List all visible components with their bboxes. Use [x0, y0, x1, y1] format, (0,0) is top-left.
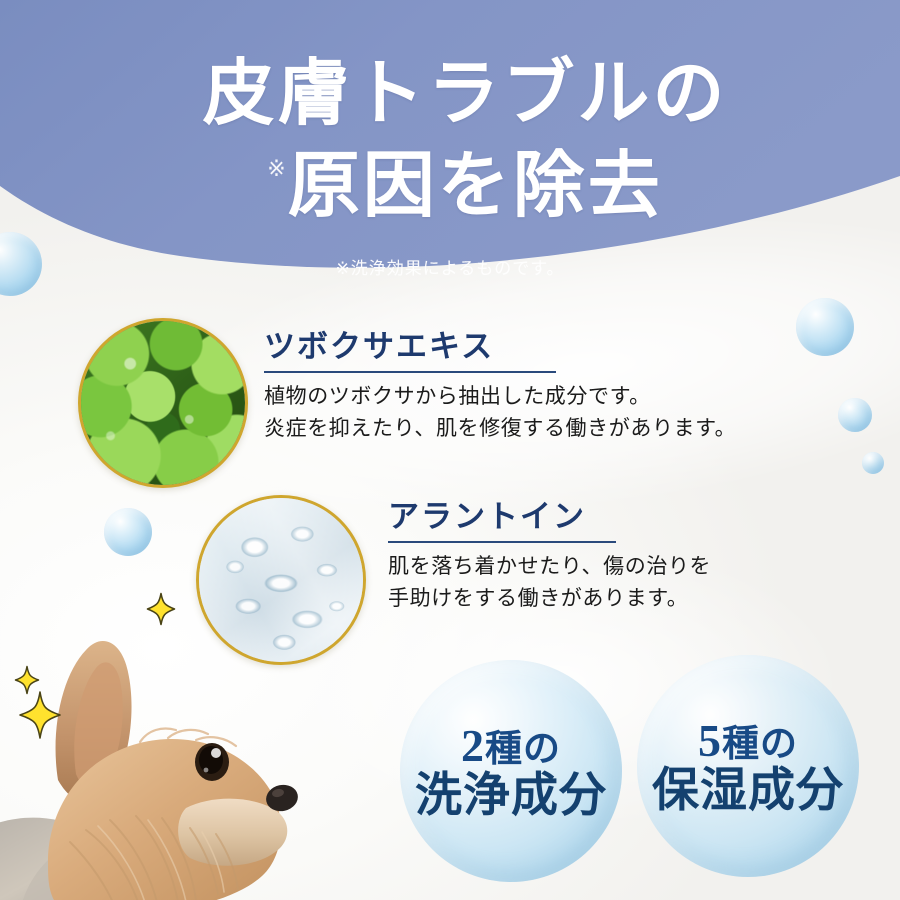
ingredient-desc-centella: 植物のツボクサから抽出した成分です。 炎症を抑えたり、肌を修復する働きがあります…	[264, 381, 736, 446]
badge-moisture-count: 5	[698, 715, 722, 766]
infographic-canvas: 皮膚トラブルの ※原因を除去 ※洗浄効果によるものです。 ツボクサエキス 植物の…	[0, 0, 900, 900]
centella-photo-circle	[78, 318, 248, 488]
bubble-decor-right-lower	[838, 398, 872, 432]
title-line-2-wrapper: ※原因を除去	[0, 150, 900, 222]
ingredient-desc-allantoin-line-1: 肌を落ち着かせたり、傷の治りを	[388, 551, 711, 584]
badge-moisture-ingredients: 5種の 保湿成分	[637, 655, 859, 877]
ingredient-block-allantoin: アラントイン 肌を落ち着かせたり、傷の治りを 手助けをする働きがあります。	[388, 500, 711, 616]
ingredient-underline-allantoin	[388, 541, 616, 543]
sparkle-icon-near-ear	[146, 592, 176, 631]
ingredient-block-centella: ツボクサエキス 植物のツボクサから抽出した成分です。 炎症を抑えたり、肌を修復す…	[264, 330, 736, 446]
badge-moisture-label: 保湿成分	[652, 768, 844, 815]
ingredient-name-centella: ツボクサエキス	[264, 330, 494, 370]
centella-leaves-image	[81, 321, 245, 485]
ingredient-name-allantoin: アラントイン	[388, 500, 586, 540]
allantoin-droplets-image	[199, 498, 363, 662]
allantoin-photo-circle	[196, 495, 366, 665]
ingredient-desc-allantoin: 肌を落ち着かせたり、傷の治りを 手助けをする働きがあります。	[388, 551, 711, 616]
badge-cleansing-label: 洗浄成分	[415, 773, 607, 820]
title-footnote: ※洗浄効果によるものです。	[0, 254, 900, 279]
badge-moisture-count-suffix: 種の	[722, 724, 798, 765]
badge-cleansing-count-line: 2種の	[461, 723, 561, 769]
ingredient-desc-centella-line-2: 炎症を抑えたり、肌を修復する働きがあります。	[264, 413, 736, 446]
bubble-decor-right-small	[862, 452, 884, 474]
title-asterisk-mark: ※	[267, 156, 285, 181]
sparkle-icon-small-left	[14, 665, 40, 700]
ingredient-underline-centella	[264, 371, 556, 373]
badge-cleansing-count: 2	[461, 720, 485, 771]
ingredient-desc-centella-line-1: 植物のツボクサから抽出した成分です。	[264, 381, 736, 414]
badge-cleansing-count-suffix: 種の	[485, 729, 561, 770]
ingredient-desc-allantoin-line-2: 手助けをする働きがあります。	[388, 583, 711, 616]
badge-moisture-count-line: 5種の	[698, 718, 798, 764]
bubble-decor-mid-left	[104, 508, 152, 556]
title-line-1: 皮膚トラブルの	[0, 58, 900, 130]
badge-cleansing-ingredients: 2種の 洗浄成分	[400, 660, 622, 882]
title-line-2: 原因を除去	[288, 146, 663, 226]
